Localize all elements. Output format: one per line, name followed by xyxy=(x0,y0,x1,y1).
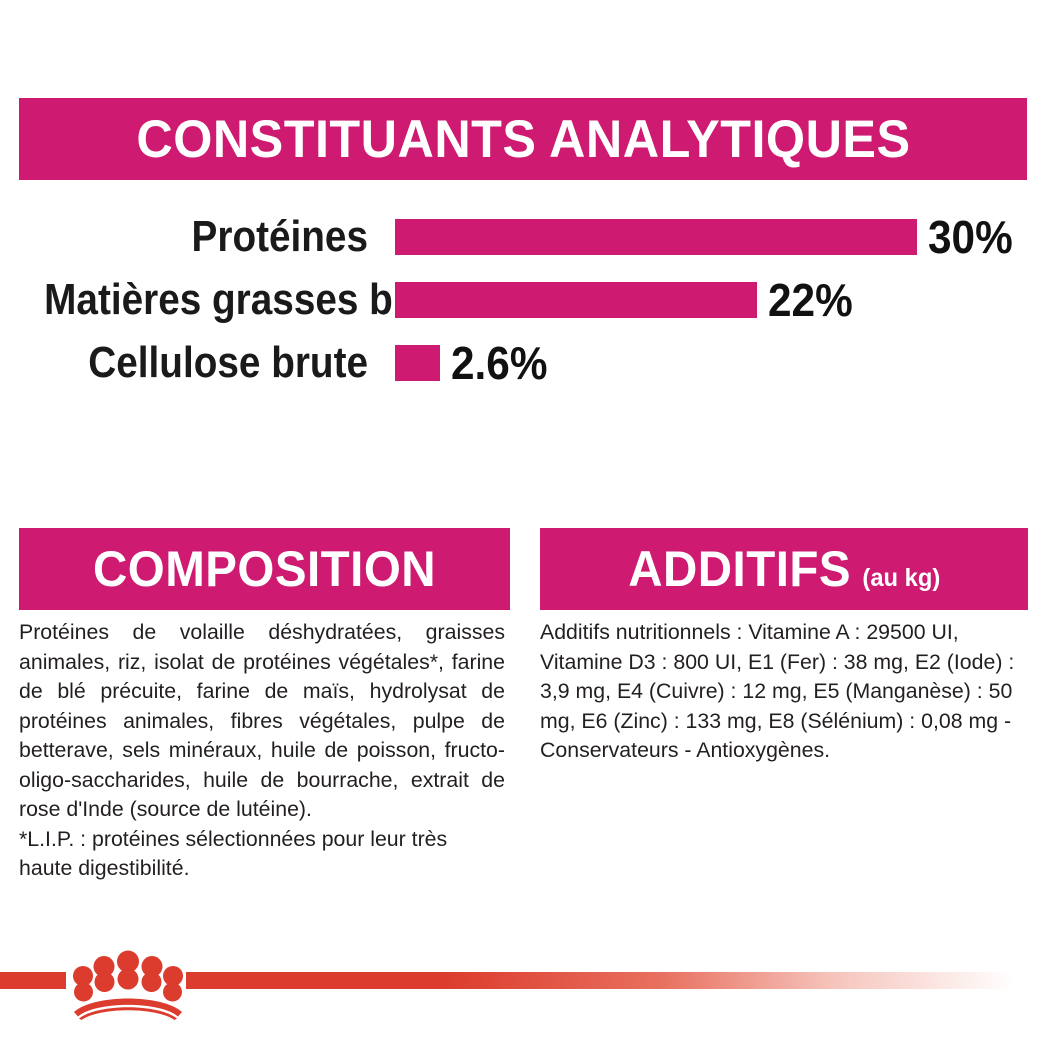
nutrient-track: 22% xyxy=(368,268,1049,331)
composition-title: COMPOSITION xyxy=(93,540,436,598)
nutrient-value-proteines: 30% xyxy=(928,214,1013,260)
product-nutrition-panel: CONSTITUANTS ANALYTIQUES Protéines 30% M… xyxy=(0,0,1049,1049)
analytical-constituents-header: CONSTITUANTS ANALYTIQUES xyxy=(19,98,1027,180)
additives-text: Additifs nutritionnels : Vitamine A : 29… xyxy=(540,620,1014,762)
nutrient-bar-proteines xyxy=(395,219,917,255)
additives-title: ADDITIFS xyxy=(628,540,851,598)
nutrient-label-cellulose-brute: Cellulose brute xyxy=(44,341,368,385)
nutrient-value-cellulose-brute: 2.6% xyxy=(451,340,547,386)
additives-header: ADDITIFS (au kg) xyxy=(540,528,1028,610)
nutrient-row: Cellulose brute 2.6% xyxy=(0,331,1049,394)
nutrient-track: 2.6% xyxy=(368,331,1049,394)
analytical-constituents-title: CONSTITUANTS ANALYTIQUES xyxy=(136,109,910,170)
nutrient-bar-matieres-grasses-brutes xyxy=(395,282,757,318)
nutrient-value-matieres-grasses-brutes: 22% xyxy=(768,277,853,323)
footer-rule-right xyxy=(186,972,1049,989)
footer xyxy=(0,972,1049,996)
nutrient-row: Matières grasses brutes 22% xyxy=(0,268,1049,331)
composition-body: Protéines de volaille déshydratées, grai… xyxy=(19,618,505,884)
composition-ingredients-text: Protéines de volaille déshydratées, grai… xyxy=(19,620,505,821)
composition-header: COMPOSITION xyxy=(19,528,510,610)
nutrient-row: Protéines 30% xyxy=(0,205,1049,268)
nutrient-label-proteines: Protéines xyxy=(44,215,368,259)
nutrient-label-matieres-grasses-brutes: Matières grasses brutes xyxy=(44,278,368,322)
analytical-constituents-chart: Protéines 30% Matières grasses brutes 22… xyxy=(0,205,1049,394)
nutrient-track: 30% xyxy=(368,205,1049,268)
composition-footnote-text: *L.I.P. : protéines sélectionnées pour l… xyxy=(19,825,505,884)
additives-body: Additifs nutritionnels : Vitamine A : 29… xyxy=(540,618,1030,766)
additives-subtitle: (au kg) xyxy=(862,564,940,593)
royal-canin-crown-icon xyxy=(68,946,188,1020)
footer-rule-left xyxy=(0,972,66,989)
nutrient-bar-cellulose-brute xyxy=(395,345,440,381)
